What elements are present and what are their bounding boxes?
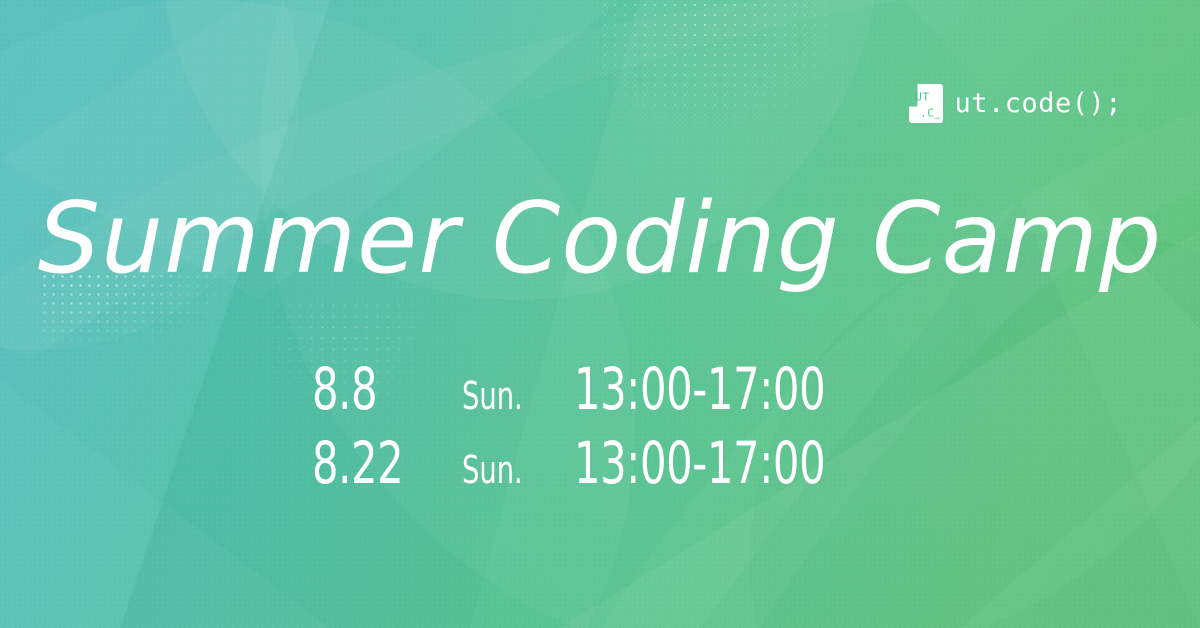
brand-wordmark: ut.code();	[954, 90, 1122, 117]
svg-text:UT: UT	[916, 91, 930, 104]
svg-text:.C: .C	[920, 106, 934, 119]
event-banner: UT .C ut.code(); Summer Coding Camp 8.8 …	[0, 0, 1200, 628]
page-title: Summer Coding Camp	[0, 188, 1200, 292]
schedule-time: 13:00-17:00	[574, 355, 825, 423]
utcode-mark-icon: UT .C	[909, 84, 943, 123]
dot-cluster-top	[600, 0, 860, 150]
schedule-row: 8.8 Sun. 13:00-17:00	[312, 355, 888, 423]
schedule-list: 8.8 Sun. 13:00-17:00 8.22 Sun. 13:00-17:…	[0, 355, 1200, 498]
schedule-time: 13:00-17:00	[574, 429, 825, 497]
schedule-date: 8.22	[312, 429, 432, 497]
schedule-row: 8.22 Sun. 13:00-17:00	[312, 429, 888, 497]
brand-lockup[interactable]: UT .C ut.code();	[909, 84, 1122, 123]
schedule-day-of-week: Sun.	[462, 374, 552, 419]
schedule-day-of-week: Sun.	[462, 448, 552, 493]
schedule-date: 8.8	[312, 355, 432, 423]
